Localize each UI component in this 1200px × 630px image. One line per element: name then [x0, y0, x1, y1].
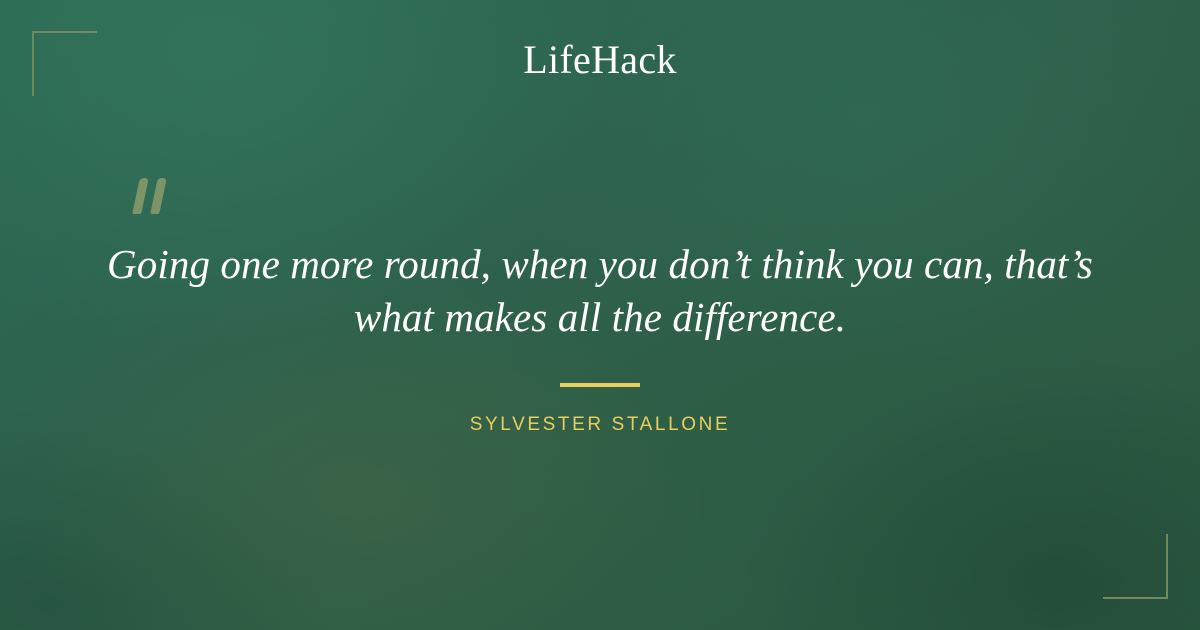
- quotation-mark-stroke-left: [132, 178, 149, 214]
- corner-bracket-icon-bottom-right: [1103, 534, 1168, 599]
- quote-author: Sylvester Stallone: [0, 412, 1200, 438]
- attribution-divider: [560, 383, 640, 387]
- quote-block: Going one more round, when you don’t thi…: [0, 238, 1200, 344]
- quotation-mark-stroke-right: [150, 178, 167, 214]
- quote-card: LifeHack Going one more round, when you …: [0, 0, 1200, 630]
- quote-text: Going one more round, when you don’t thi…: [90, 238, 1110, 344]
- brand-logo: LifeHack: [0, 36, 1200, 84]
- quotation-mark-icon: [130, 152, 190, 222]
